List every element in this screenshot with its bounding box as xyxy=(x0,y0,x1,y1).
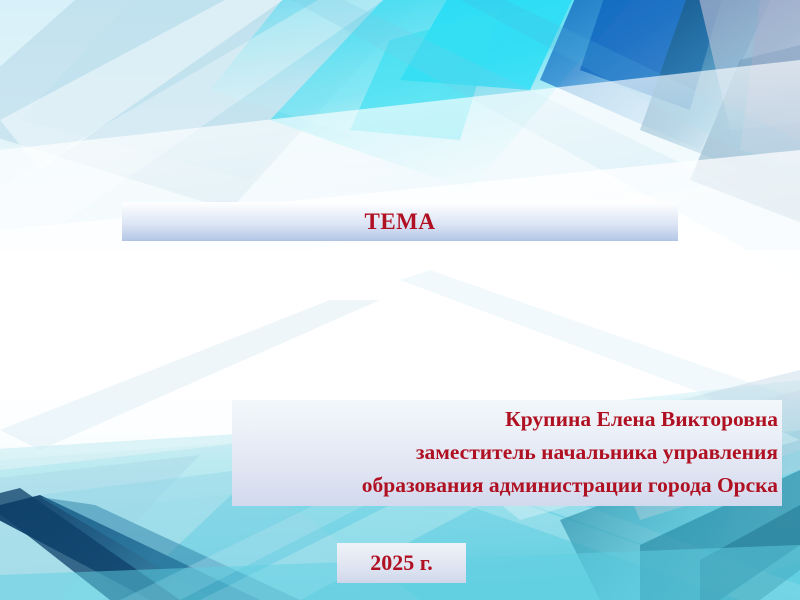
title-plate: ТЕМА xyxy=(122,202,678,241)
presentation-title-slide: ТЕМА Крупина Елена Викторовна заместител… xyxy=(0,0,800,600)
page-title: ТЕМА xyxy=(365,210,436,233)
abstract-geometric-background xyxy=(0,0,800,600)
year-label: 2025 г. xyxy=(370,552,433,574)
author-position-line-2: образования администрации города Орска xyxy=(362,469,778,502)
author-name: Крупина Елена Викторовна xyxy=(505,403,778,436)
author-position-line-1: заместитель начальника управления xyxy=(416,436,778,469)
author-plate: Крупина Елена Викторовна заместитель нач… xyxy=(232,400,782,506)
year-plate: 2025 г. xyxy=(337,543,466,583)
